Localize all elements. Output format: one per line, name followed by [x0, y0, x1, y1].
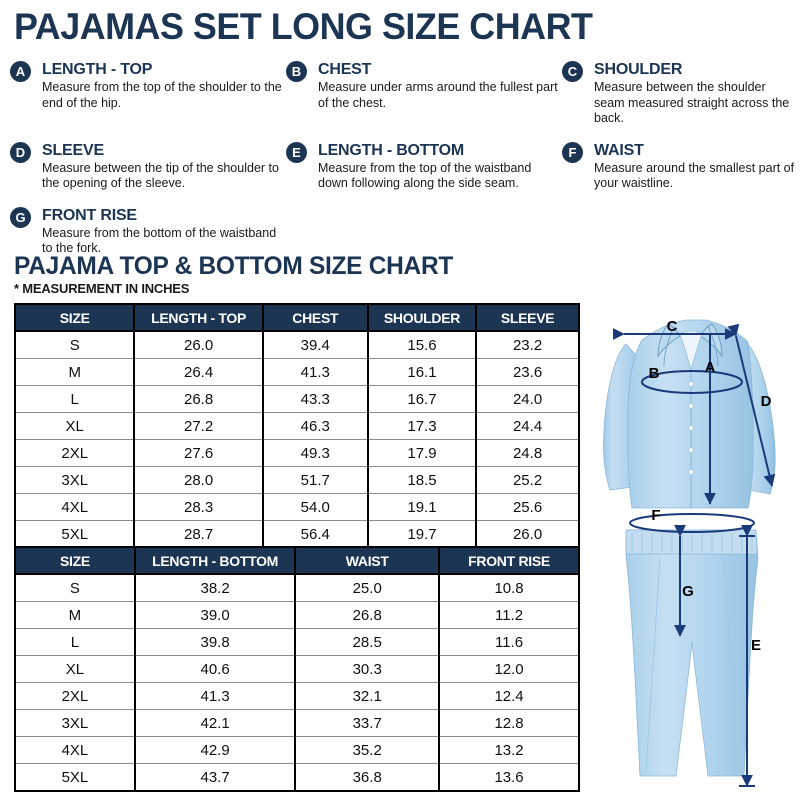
- cell-size: L: [15, 386, 134, 413]
- table-row: 5XL 43.7 36.8 13.6: [15, 764, 579, 792]
- legend-title-d: SLEEVE: [42, 141, 286, 160]
- legend-badge-f: F: [562, 142, 583, 163]
- cell-shoulder: 18.5: [368, 467, 476, 494]
- legend-title-b: CHEST: [318, 60, 562, 79]
- pajama-top-illustration: C B A D: [603, 318, 775, 508]
- cell-size: XL: [15, 656, 135, 683]
- legend-desc-c: Measure between the shoulder seam measur…: [594, 80, 795, 127]
- cell-length-top: 26.4: [134, 359, 262, 386]
- legend-title-g: FRONT RISE: [42, 206, 286, 225]
- cell-waist: 25.0: [295, 574, 439, 602]
- cell-length-bottom: 38.2: [135, 574, 295, 602]
- table-row: 4XL 28.3 54.0 19.1 25.6: [15, 494, 579, 521]
- cell-shoulder: 17.9: [368, 440, 476, 467]
- table-header-row: SIZE LENGTH - BOTTOM WAIST FRONT RISE: [15, 547, 579, 574]
- cell-shoulder: 16.1: [368, 359, 476, 386]
- pajama-bottom-illustration: F G E: [626, 507, 761, 786]
- table-row: L 39.8 28.5 11.6: [15, 629, 579, 656]
- table-row: XL 27.2 46.3 17.3 24.4: [15, 413, 579, 440]
- legend-title-c: SHOULDER: [594, 60, 795, 79]
- legend-title-e: LENGTH - BOTTOM: [318, 141, 562, 160]
- cell-size: 4XL: [15, 737, 135, 764]
- table-body: S 38.2 25.0 10.8 M 39.0 26.8 11.2 L 39.8…: [15, 574, 579, 791]
- cell-chest: 46.3: [263, 413, 368, 440]
- cell-length-top: 28.7: [134, 521, 262, 549]
- cell-chest: 56.4: [263, 521, 368, 549]
- table-body: S 26.0 39.4 15.6 23.2 M 26.4 41.3 16.1 2…: [15, 331, 579, 548]
- cell-size: 5XL: [15, 764, 135, 792]
- cell-waist: 30.3: [295, 656, 439, 683]
- cell-waist: 28.5: [295, 629, 439, 656]
- legend-row: D SLEEVE Measure between the tip of the …: [10, 141, 795, 192]
- cell-size: L: [15, 629, 135, 656]
- section-note: * MEASUREMENT IN INCHES: [14, 281, 189, 296]
- cell-length-bottom: 40.6: [135, 656, 295, 683]
- table-row: S 38.2 25.0 10.8: [15, 574, 579, 602]
- cell-length-bottom: 39.8: [135, 629, 295, 656]
- legend-badge-c: C: [562, 61, 583, 82]
- legend-desc-b: Measure under arms around the fullest pa…: [318, 80, 562, 111]
- label-a: A: [705, 359, 716, 376]
- cell-length-top: 26.8: [134, 386, 262, 413]
- cell-front-rise: 13.2: [439, 737, 579, 764]
- table-row: M 26.4 41.3 16.1 23.6: [15, 359, 579, 386]
- cell-shoulder: 16.7: [368, 386, 476, 413]
- table-head: SIZE LENGTH - TOP CHEST SHOULDER SLEEVE: [15, 304, 579, 331]
- legend-title-a: LENGTH - TOP: [42, 60, 286, 79]
- cell-length-bottom: 41.3: [135, 683, 295, 710]
- cell-length-top: 28.0: [134, 467, 262, 494]
- cell-sleeve: 24.0: [476, 386, 579, 413]
- size-chart-page: PAJAMAS SET LONG SIZE CHART A LENGTH - T…: [0, 0, 800, 800]
- cell-sleeve: 25.6: [476, 494, 579, 521]
- table-row: XL 40.6 30.3 12.0: [15, 656, 579, 683]
- cell-size: XL: [15, 413, 134, 440]
- legend-badge-d: D: [10, 142, 31, 163]
- cell-front-rise: 11.6: [439, 629, 579, 656]
- table-row: 4XL 42.9 35.2 13.2: [15, 737, 579, 764]
- cell-sleeve: 26.0: [476, 521, 579, 549]
- cell-size: S: [15, 331, 134, 359]
- table-row: 5XL 28.7 56.4 19.7 26.0: [15, 521, 579, 549]
- table-head: SIZE LENGTH - BOTTOM WAIST FRONT RISE: [15, 547, 579, 574]
- legend-item-g: G FRONT RISE Measure from the bottom of …: [10, 206, 286, 257]
- cell-length-top: 27.6: [134, 440, 262, 467]
- label-b: B: [649, 365, 660, 382]
- cell-size: 4XL: [15, 494, 134, 521]
- column-header-length-bottom: LENGTH - BOTTOM: [135, 547, 295, 574]
- table-row: 3XL 42.1 33.7 12.8: [15, 710, 579, 737]
- legend-item-d: D SLEEVE Measure between the tip of the …: [10, 141, 286, 192]
- table-row: 2XL 41.3 32.1 12.4: [15, 683, 579, 710]
- cell-length-bottom: 42.1: [135, 710, 295, 737]
- column-header-shoulder: SHOULDER: [368, 304, 476, 331]
- cell-size: M: [15, 602, 135, 629]
- legend-badge-a: A: [10, 61, 31, 82]
- cell-waist: 33.7: [295, 710, 439, 737]
- cell-size: S: [15, 574, 135, 602]
- cell-size: 2XL: [15, 440, 134, 467]
- label-e: E: [751, 637, 761, 654]
- cell-front-rise: 12.8: [439, 710, 579, 737]
- column-header-length-top: LENGTH - TOP: [134, 304, 262, 331]
- table-row: S 26.0 39.4 15.6 23.2: [15, 331, 579, 359]
- cell-shoulder: 19.1: [368, 494, 476, 521]
- label-f: F: [651, 507, 660, 524]
- cell-waist: 32.1: [295, 683, 439, 710]
- cell-size: 3XL: [15, 710, 135, 737]
- ellipse-waist-f: [630, 514, 754, 532]
- cell-shoulder: 17.3: [368, 413, 476, 440]
- cell-size: 5XL: [15, 521, 134, 549]
- cell-chest: 43.3: [263, 386, 368, 413]
- label-g: G: [682, 583, 694, 600]
- legend-item-b: B CHEST Measure under arms around the fu…: [286, 60, 562, 127]
- column-header-front-rise: FRONT RISE: [439, 547, 579, 574]
- cell-sleeve: 25.2: [476, 467, 579, 494]
- cell-length-top: 27.2: [134, 413, 262, 440]
- legend-row: G FRONT RISE Measure from the bottom of …: [10, 206, 795, 257]
- label-d: D: [761, 393, 772, 410]
- column-header-size: SIZE: [15, 304, 134, 331]
- cell-shoulder: 19.7: [368, 521, 476, 549]
- legend-item-f: F WAIST Measure around the smallest part…: [562, 141, 795, 192]
- legend-row: A LENGTH - TOP Measure from the top of t…: [10, 60, 795, 127]
- cell-chest: 41.3: [263, 359, 368, 386]
- column-header-waist: WAIST: [295, 547, 439, 574]
- cell-sleeve: 24.4: [476, 413, 579, 440]
- cell-length-bottom: 43.7: [135, 764, 295, 792]
- measurement-legend: A LENGTH - TOP Measure from the top of t…: [10, 60, 795, 257]
- column-header-chest: CHEST: [263, 304, 368, 331]
- legend-desc-a: Measure from the top of the shoulder to …: [42, 80, 286, 111]
- cell-length-bottom: 39.0: [135, 602, 295, 629]
- legend-badge-b: B: [286, 61, 307, 82]
- cell-length-top: 26.0: [134, 331, 262, 359]
- cell-sleeve: 23.2: [476, 331, 579, 359]
- page-title: PAJAMAS SET LONG SIZE CHART: [14, 6, 592, 48]
- legend-item-a: A LENGTH - TOP Measure from the top of t…: [10, 60, 286, 127]
- cell-front-rise: 12.4: [439, 683, 579, 710]
- cell-waist: 35.2: [295, 737, 439, 764]
- legend-item-c: C SHOULDER Measure between the shoulder …: [562, 60, 795, 127]
- table-row: 3XL 28.0 51.7 18.5 25.2: [15, 467, 579, 494]
- table-row: M 39.0 26.8 11.2: [15, 602, 579, 629]
- legend-badge-e: E: [286, 142, 307, 163]
- cell-sleeve: 23.6: [476, 359, 579, 386]
- legend-badge-g: G: [10, 207, 31, 228]
- table-row: 2XL 27.6 49.3 17.9 24.8: [15, 440, 579, 467]
- legend-desc-d: Measure between the tip of the shoulder …: [42, 161, 286, 192]
- cell-size: M: [15, 359, 134, 386]
- legend-desc-e: Measure from the top of the waistband do…: [318, 161, 562, 192]
- garment-illustration: C B A D: [596, 300, 796, 795]
- cell-waist: 26.8: [295, 602, 439, 629]
- cell-front-rise: 12.0: [439, 656, 579, 683]
- cell-chest: 49.3: [263, 440, 368, 467]
- cell-length-top: 28.3: [134, 494, 262, 521]
- cell-chest: 51.7: [263, 467, 368, 494]
- cell-length-bottom: 42.9: [135, 737, 295, 764]
- table-row: L 26.8 43.3 16.7 24.0: [15, 386, 579, 413]
- column-header-sleeve: SLEEVE: [476, 304, 579, 331]
- table-header-row: SIZE LENGTH - TOP CHEST SHOULDER SLEEVE: [15, 304, 579, 331]
- legend-desc-f: Measure around the smallest part of your…: [594, 161, 795, 192]
- label-c: C: [667, 318, 678, 335]
- cell-front-rise: 11.2: [439, 602, 579, 629]
- legend-title-f: WAIST: [594, 141, 795, 160]
- cell-chest: 39.4: [263, 331, 368, 359]
- cell-front-rise: 10.8: [439, 574, 579, 602]
- cell-waist: 36.8: [295, 764, 439, 792]
- cell-chest: 54.0: [263, 494, 368, 521]
- pajama-top-size-table: SIZE LENGTH - TOP CHEST SHOULDER SLEEVE …: [14, 303, 580, 549]
- legend-item-e: E LENGTH - BOTTOM Measure from the top o…: [286, 141, 562, 192]
- cell-sleeve: 24.8: [476, 440, 579, 467]
- cell-size: 3XL: [15, 467, 134, 494]
- pajama-bottom-size-table: SIZE LENGTH - BOTTOM WAIST FRONT RISE S …: [14, 546, 580, 792]
- cell-shoulder: 15.6: [368, 331, 476, 359]
- column-header-size: SIZE: [15, 547, 135, 574]
- cell-size: 2XL: [15, 683, 135, 710]
- section-heading: PAJAMA TOP & BOTTOM SIZE CHART: [14, 252, 453, 281]
- cell-front-rise: 13.6: [439, 764, 579, 792]
